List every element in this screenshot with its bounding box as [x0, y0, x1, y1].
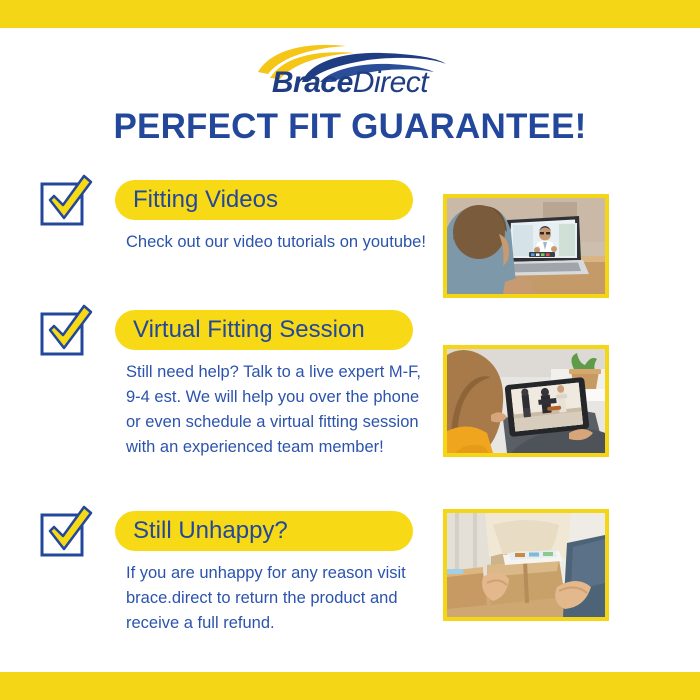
logo-wordmark: BraceDirect [0, 68, 700, 98]
checkbox-checked-icon [38, 503, 94, 559]
photo-video-call-laptop-art [447, 198, 605, 294]
section-title: Virtual Fitting Session [133, 316, 365, 343]
checkbox-checked-icon [38, 172, 94, 228]
section-body: Check out our video tutorials on youtube… [126, 230, 436, 255]
page-title: PERFECT FIT GUARANTEE! [0, 108, 700, 146]
section-body: If you are unhappy for any reason visit … [126, 561, 426, 636]
photo-package-return-art [447, 513, 605, 617]
guarantee-graphic: BraceDirect PERFECT FIT GUARANTEE! Fitti… [0, 0, 700, 700]
section-title-pill: Virtual Fitting Session [115, 310, 413, 350]
section-title: Fitting Videos [133, 186, 278, 213]
section-title-pill: Still Unhappy? [115, 511, 413, 551]
top-accent-bar [0, 0, 700, 28]
photo-tablet-fitting-session [443, 345, 609, 457]
checkbox-checked-icon [38, 302, 94, 358]
brand-logo: BraceDirect [0, 42, 700, 98]
logo-word-direct: Direct [353, 66, 428, 99]
photo-package-return [443, 509, 609, 621]
photo-video-call-laptop [443, 194, 609, 298]
section-body: Still need help? Talk to a live expert M… [126, 360, 431, 460]
bottom-accent-bar [0, 672, 700, 700]
section-title: Still Unhappy? [133, 517, 288, 544]
logo-word-brace: Brace [272, 66, 353, 99]
photo-tablet-fitting-session-art [447, 349, 605, 453]
section-title-pill: Fitting Videos [115, 180, 413, 220]
